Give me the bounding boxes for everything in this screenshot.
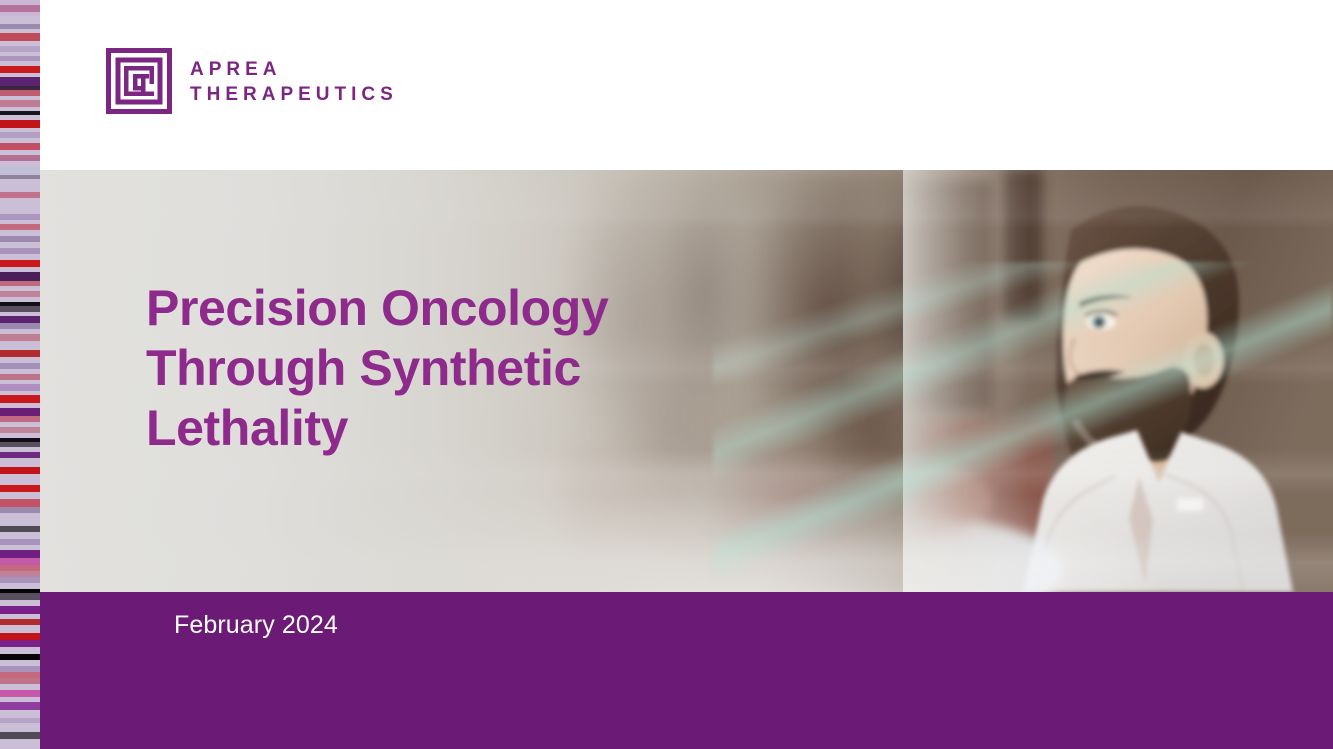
hero-image-band: Precision Oncology Through Synthetic Let… [40,170,1333,592]
barcode-bar [0,16,40,23]
barcode-bar [0,690,40,697]
barcode-bar [0,550,40,558]
barcode-bar [0,593,40,600]
barcode-bar [0,739,40,748]
barcode-bar [0,513,40,526]
barcode-bar [0,143,40,150]
barcode-bar [0,474,40,485]
aprea-wordmark: APREA THERAPEUTICS [190,58,398,105]
barcode-bar [0,33,40,41]
barcode-bar [0,702,40,709]
barcode-bar [0,532,40,539]
barcode-bar [0,260,40,267]
slide-header: APREA THERAPEUTICS [40,0,1333,170]
barcode-strip-decoration [0,0,40,749]
barcode-bar [0,732,40,739]
barcode-bar [0,341,40,350]
barcode-bar [0,408,40,416]
barcode-bar [0,458,40,467]
barcode-bar [0,66,40,73]
barcode-bar [0,647,40,654]
barcode-bar [0,499,40,506]
barcode-bar [0,723,40,731]
wordmark-line-aprea: APREA [190,60,398,80]
barcode-bar [0,77,40,86]
barcode-bar [0,179,40,192]
barcode-bar [0,198,40,214]
barcode-bar [0,485,40,492]
presentation-slide: APREA THERAPEUTICS [0,0,1333,749]
barcode-bar [0,710,40,718]
slide-footer: February 2024 [40,592,1333,749]
barcode-bar [0,395,40,402]
barcode-bar [0,492,40,499]
brand-lockup: APREA THERAPEUTICS [106,48,398,114]
aprea-maze-logo-icon [106,48,172,114]
barcode-bar [0,272,40,280]
barcode-bar [0,316,40,323]
presentation-date: February 2024 [174,610,338,640]
barcode-bar [0,606,40,614]
barcode-bar [0,120,40,127]
barcode-bar [0,640,40,647]
hero-lab-foreground [557,170,997,592]
wordmark-line-therapeutics: THERAPEUTICS [190,85,398,105]
page-title: Precision Oncology Through Synthetic Let… [146,278,608,458]
barcode-bar [0,350,40,357]
barcode-bar [0,625,40,633]
barcode-bar [0,167,40,175]
